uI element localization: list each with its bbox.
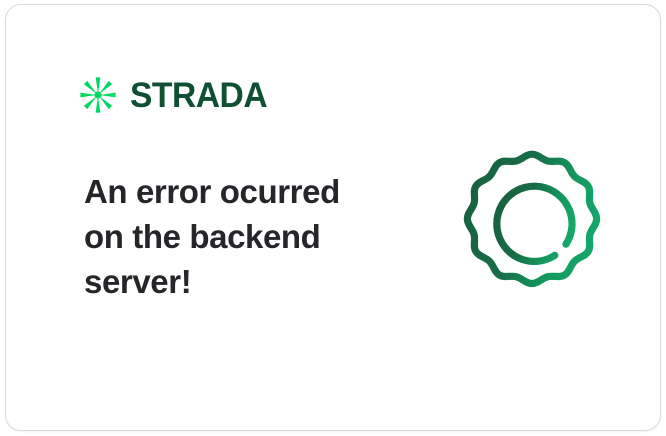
strada-asterisk-icon [78, 75, 118, 115]
brand-lockup: STRADA [78, 73, 273, 117]
error-message: An error ocurred on the backend server! [84, 169, 384, 304]
brand-wordmark: STRADA [130, 78, 267, 113]
gear-cog-icon [452, 143, 612, 303]
error-card: STRADA An error ocurred on the backend s… [5, 4, 661, 431]
app-screen: STRADA An error ocurred on the backend s… [0, 0, 666, 436]
